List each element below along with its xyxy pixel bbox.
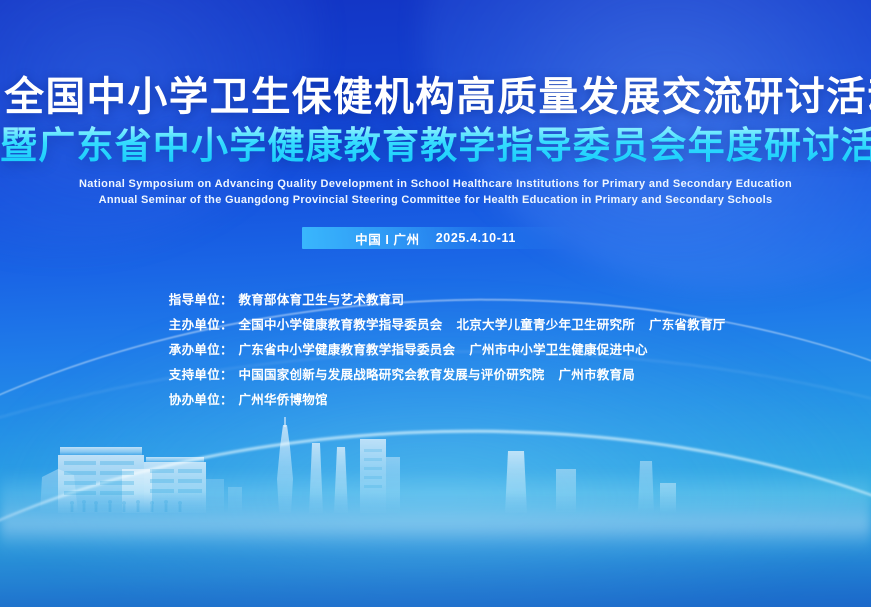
- event-date: 2025.4.10-11: [436, 231, 516, 245]
- organizer-values: 广东省中小学健康教育教学指导委员会 广州市中小学卫生健康促进中心: [239, 339, 648, 358]
- organizer-row: 承办单位 ： 广东省中小学健康教育教学指导委员会 广州市中小学卫生健康促进中心: [158, 339, 726, 364]
- organizer-values: 教育部体育卫生与艺术教育司: [239, 289, 405, 308]
- event-location: 中国 I 广州: [355, 229, 420, 248]
- organizer-label: 主办单位: [158, 314, 220, 333]
- main-title-chinese-line1: 全国中小学卫生保健机构高质量发展交流研讨活动: [4, 74, 866, 120]
- organizer-row: 主办单位 ： 全国中小学健康教育教学指导委员会 北京大学儿童青少年卫生研究所 广…: [158, 314, 726, 339]
- organizer-value: 广州市中小学卫生健康促进中心: [469, 339, 648, 358]
- organizer-value: 广州市教育局: [559, 364, 636, 383]
- organizer-label: 支持单位: [158, 364, 220, 383]
- organizer-colon: ：: [220, 339, 239, 358]
- subtitle-english-line2: Annual Seminar of the Guangdong Provinci…: [0, 193, 871, 209]
- organizer-list: 指导单位 ： 教育部体育卫生与艺术教育司 主办单位 ： 全国中小学健康教育教学指…: [158, 289, 726, 414]
- organizer-values: 中国国家创新与发展战略研究会教育发展与评价研究院 广州市教育局: [239, 364, 636, 383]
- organizer-row: 协办单位 ： 广州华侨博物馆: [158, 389, 726, 414]
- organizer-colon: ：: [220, 364, 239, 383]
- organizer-colon: ：: [220, 314, 239, 333]
- organizer-row: 支持单位 ： 中国国家创新与发展战略研究会教育发展与评价研究院 广州市教育局: [158, 364, 726, 389]
- organizer-colon: ：: [220, 389, 239, 408]
- location-date-badge: 中国 I 广州 2025.4.10-11: [302, 227, 570, 249]
- organizer-value: 广东省教育厅: [649, 314, 726, 333]
- subtitle-english-line1: National Symposium on Advancing Quality …: [0, 177, 871, 193]
- organizer-label: 协办单位: [158, 389, 220, 408]
- organizer-value: 教育部体育卫生与艺术教育司: [239, 289, 405, 308]
- bottom-gradient-fade: [0, 492, 871, 607]
- subtitle-english: National Symposium on Advancing Quality …: [0, 177, 871, 208]
- organizer-value: 北京大学儿童青少年卫生研究所: [457, 314, 636, 333]
- organizer-value: 广东省中小学健康教育教学指导委员会: [239, 339, 456, 358]
- title-block: 全国中小学卫生保健机构高质量发展交流研讨活动 暨广东省中小学健康教育教学指导委员…: [0, 74, 871, 208]
- event-meta-bar: 中国 I 广州 2025.4.10-11: [0, 227, 871, 249]
- main-title-chinese-line2: 暨广东省中小学健康教育教学指导委员会年度研讨活动: [0, 124, 871, 168]
- organizer-row: 指导单位 ： 教育部体育卫生与艺术教育司: [158, 289, 726, 314]
- organizer-value: 全国中小学健康教育教学指导委员会: [239, 314, 443, 333]
- conference-poster: 全国中小学卫生保健机构高质量发展交流研讨活动 暨广东省中小学健康教育教学指导委员…: [0, 0, 871, 607]
- organizer-label: 承办单位: [158, 339, 220, 358]
- organizer-label: 指导单位: [158, 289, 220, 308]
- organizer-value: 中国国家创新与发展战略研究会教育发展与评价研究院: [239, 364, 545, 383]
- organizer-values: 全国中小学健康教育教学指导委员会 北京大学儿童青少年卫生研究所 广东省教育厅: [239, 314, 726, 333]
- organizer-values: 广州华侨博物馆: [239, 389, 328, 408]
- organizer-value: 广州华侨博物馆: [239, 389, 328, 408]
- organizer-colon: ：: [220, 289, 239, 308]
